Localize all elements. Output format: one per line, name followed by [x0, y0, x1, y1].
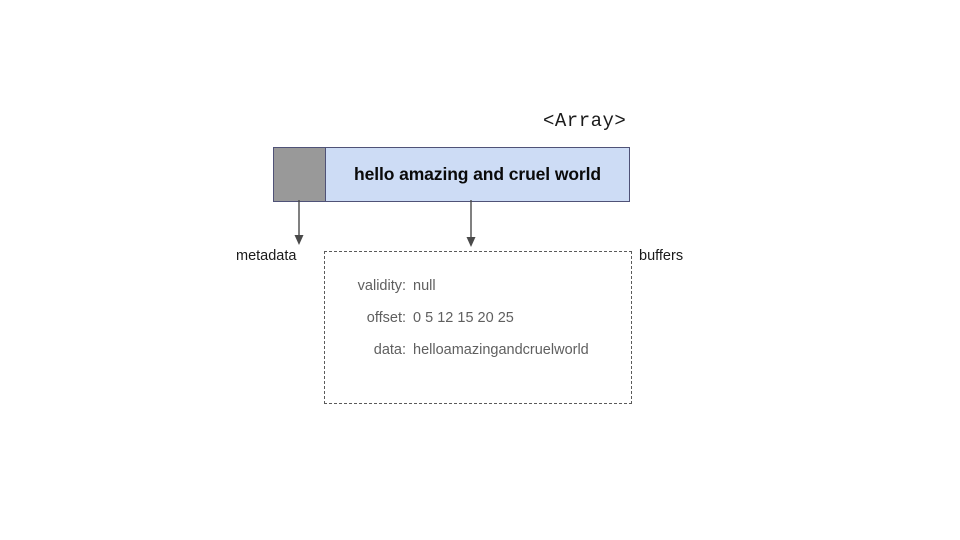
- array-value-text: hello amazing and cruel world: [354, 164, 601, 185]
- buffers-caption: buffers: [639, 248, 683, 264]
- buffer-key-offset: offset: [325, 310, 402, 326]
- buffer-row-list: validity : null offset : 0 5 12 15 20 25…: [325, 278, 631, 374]
- metadata-arrow: [283, 200, 315, 250]
- buffer-value-offset: 0 5 12 15 20 25: [406, 310, 514, 326]
- diagram-canvas: <Array> hello amazing and cruel world me…: [0, 0, 960, 540]
- array-metadata-cell[interactable]: [274, 148, 326, 201]
- buffer-row-data: data : helloamazingandcruelworld: [325, 342, 631, 374]
- buffer-row-validity: validity : null: [325, 278, 631, 310]
- buffers-arrow: [455, 200, 487, 252]
- buffer-value-validity: null: [406, 278, 436, 294]
- buffer-key-data: data: [325, 342, 402, 358]
- buffer-key-validity: validity: [325, 278, 402, 294]
- array-value-cell[interactable]: hello amazing and cruel world: [326, 148, 629, 201]
- array-box[interactable]: hello amazing and cruel world: [273, 147, 630, 202]
- buffer-value-data: helloamazingandcruelworld: [406, 342, 589, 358]
- buffer-row-offset: offset : 0 5 12 15 20 25: [325, 310, 631, 342]
- metadata-caption: metadata: [236, 248, 296, 264]
- buffers-panel: validity : null offset : 0 5 12 15 20 25…: [324, 251, 632, 404]
- array-type-label: <Array>: [543, 110, 626, 132]
